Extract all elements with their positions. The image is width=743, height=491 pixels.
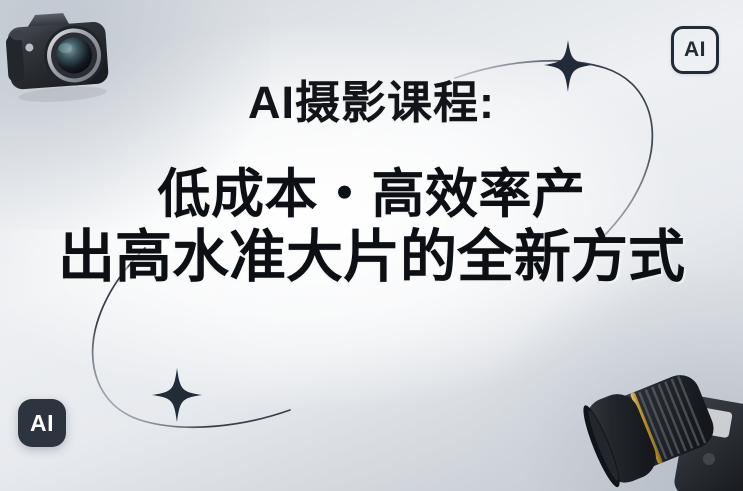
camera-lens-icon	[581, 351, 743, 491]
headline-line-1: 低成本・高效率产	[0, 165, 743, 225]
poster-title: AI摄影课程:	[0, 78, 743, 128]
ai-badge-top-right-label: AI	[684, 38, 706, 62]
headline-line-2: 出高水准大片的全新方式	[0, 225, 743, 290]
ai-badge-bottom-left: AI	[18, 399, 66, 447]
sparkle-star-bottom	[152, 368, 202, 422]
poster-headline: 低成本・高效率产 出高水准大片的全新方式	[0, 165, 743, 290]
ai-badge-top-right: AI	[671, 26, 719, 74]
poster-canvas: AI AI AI摄影课程: 低成本・高效率产 出高水准大片的全新方式	[0, 0, 743, 491]
ai-badge-bottom-left-label: AI	[30, 410, 54, 437]
